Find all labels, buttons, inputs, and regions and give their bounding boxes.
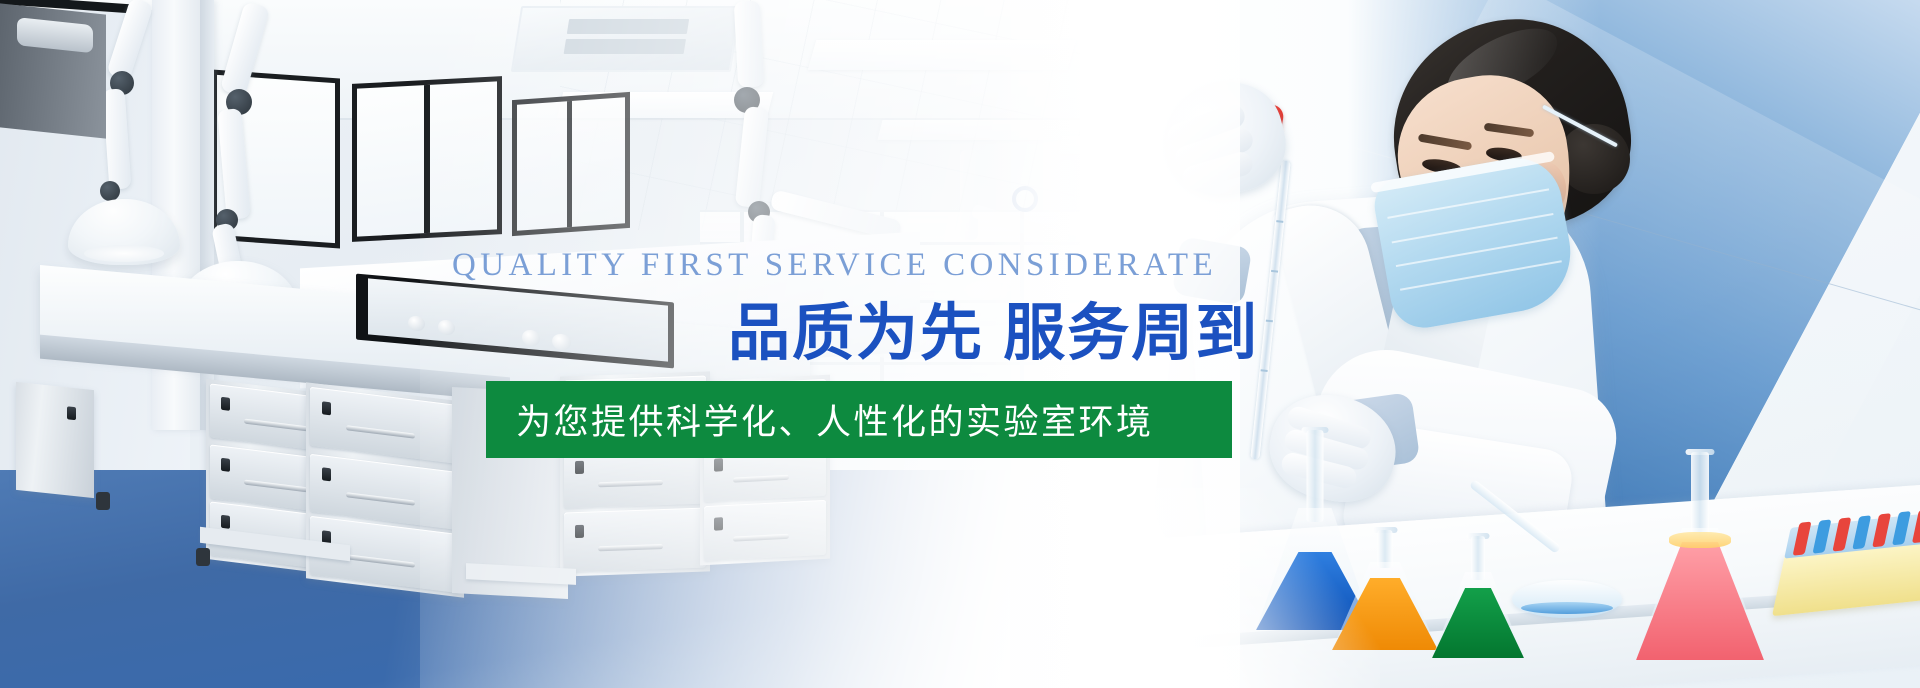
storage-cabinet [16, 382, 94, 498]
subheadline-chinese: 为您提供科学化、人性化的实验室环境 [486, 394, 1154, 445]
caster-wheel-icon [196, 548, 210, 566]
hero-banner: QUALITY FIRST SERVICE CONSIDERATE 品质为先 服… [0, 0, 1920, 688]
headline-chinese: 品质为先 服务周到 [728, 300, 1259, 368]
surgical-face-mask [1370, 151, 1580, 333]
petri-dish [1512, 580, 1622, 618]
technician-head [1380, 20, 1630, 320]
under-bench-unit [0, 3, 106, 138]
tagline-english: QUALITY FIRST SERVICE CONSIDERATE [452, 249, 1252, 282]
erlenmeyer-flask-green [1432, 536, 1524, 658]
caster-wheel-icon [96, 492, 110, 510]
erlenmeyer-flask-pink [1636, 452, 1764, 660]
subheadline-green-bar: 为您提供科学化、人性化的实验室环境 [486, 381, 1232, 458]
